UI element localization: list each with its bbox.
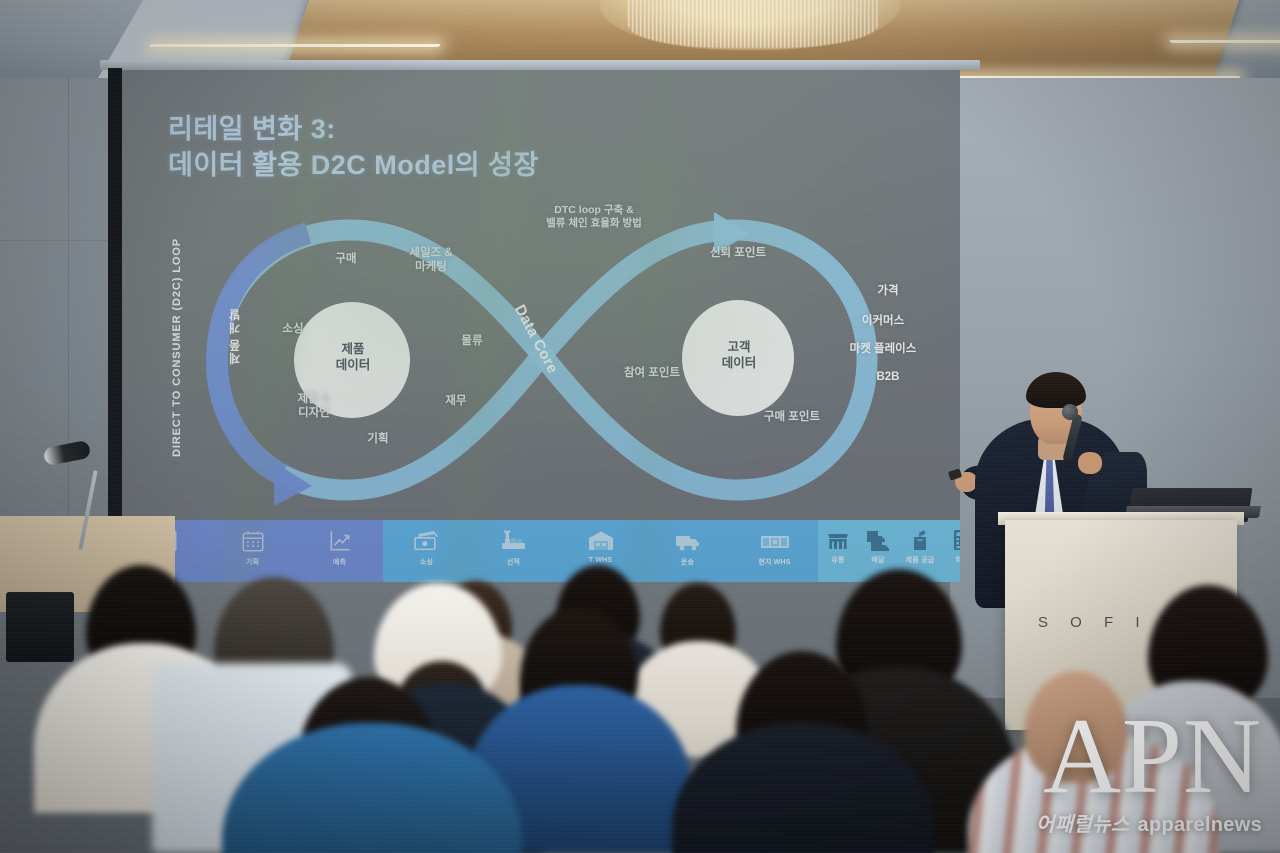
- screen-mount-bar: [100, 60, 980, 70]
- node-purchase-point: 구매 포인트: [742, 410, 842, 424]
- cove-light-left: [149, 44, 441, 47]
- loop-side-label: DIRECT TO CONSUMER (D2C) LOOP: [170, 238, 185, 457]
- channel-marketplace: 마켓 플레이스: [828, 342, 938, 356]
- node-sales-marketing: 세일즈 & 마케팅: [388, 246, 474, 275]
- core-customer-data: 고객 데이터: [704, 340, 774, 371]
- conference-photo: 리테일 변화 3: 데이터 활용 D2C Model의 성장 DIRECT TO…: [0, 0, 1280, 853]
- audience: [0, 523, 1280, 853]
- node-sourcing: 소싱: [264, 322, 322, 336]
- node-logistics: 물류: [444, 334, 500, 348]
- cove-light-right: [1169, 40, 1280, 43]
- top-annotation: DTC loop 구축 & 밸류 체인 효율화 방법: [504, 204, 684, 230]
- core-product-data: 제품 데이터: [318, 342, 388, 373]
- node-engagement-point: 참여 포인트: [604, 366, 700, 380]
- loop-arc-label: 제품 개발: [226, 308, 243, 364]
- wall-seam-vertical: [68, 78, 69, 548]
- node-finance: 재무: [428, 394, 484, 408]
- speaker-right-hand: [1078, 452, 1102, 474]
- node-planning: 기획: [350, 432, 406, 446]
- projection-screen: 리테일 변화 3: 데이터 활용 D2C Model의 성장 DIRECT TO…: [122, 70, 960, 582]
- node-purchase: 구매: [316, 252, 376, 266]
- channel-ecommerce: 이커머스: [840, 314, 926, 328]
- wall-seam-horizontal: [0, 240, 110, 241]
- node-product-design: 제품 & 디자인: [274, 392, 354, 421]
- handheld-microphone-head: [1062, 404, 1078, 420]
- infinity-loop-diagram: [122, 70, 960, 582]
- chandelier-strands: [628, 0, 878, 48]
- node-trust-point: 신뢰 포인트: [690, 246, 786, 260]
- channel-b2b: B2B: [858, 370, 918, 384]
- channel-price: 가격: [858, 284, 918, 298]
